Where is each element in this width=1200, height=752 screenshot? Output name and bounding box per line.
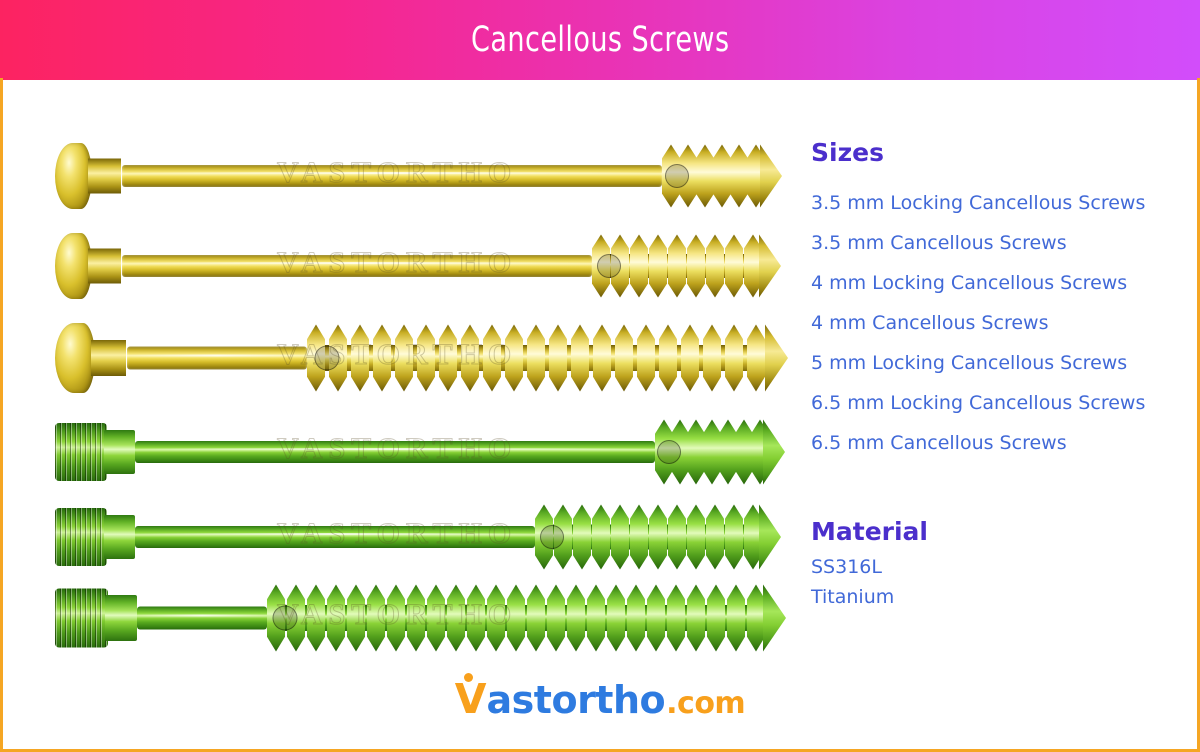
thread-crest xyxy=(687,235,705,298)
screw-tip xyxy=(760,145,782,208)
material-list: SS316LTitanium xyxy=(811,552,1181,612)
thread-crest xyxy=(735,420,753,485)
cannulation-hole xyxy=(315,346,340,371)
screw-tip xyxy=(759,235,781,298)
thread-crest xyxy=(647,585,665,652)
screw-head-locking-threads xyxy=(55,508,107,566)
thread-crest xyxy=(713,145,731,208)
material-heading: Material xyxy=(811,517,1181,546)
thread-crest xyxy=(587,585,605,652)
thread-crest xyxy=(592,505,610,570)
cannulation-hole xyxy=(597,254,621,278)
size-item-4: 5 mm Locking Cancellous Screws xyxy=(811,343,1181,383)
thread-crest xyxy=(395,325,413,392)
screw-shaft xyxy=(122,165,662,187)
screw-green-locking-fully-threaded: VASTORTHO xyxy=(55,580,795,656)
thread-crest xyxy=(593,325,611,392)
thread-crest xyxy=(467,585,485,652)
thread-crest xyxy=(706,505,724,570)
size-item-5: 6.5 mm Locking Cancellous Screws xyxy=(811,383,1181,423)
screw-head-collar xyxy=(104,430,135,474)
thread-crest xyxy=(747,325,765,392)
screw-head-neck xyxy=(88,159,121,194)
thread-crest xyxy=(615,325,633,392)
thread-crest xyxy=(637,325,655,392)
thread-crest xyxy=(668,235,686,298)
thread-crest xyxy=(687,585,705,652)
thread-crest xyxy=(649,505,667,570)
thread-crest xyxy=(667,585,685,652)
thread-crest xyxy=(687,420,705,485)
frame-border-left xyxy=(0,78,3,752)
thread-crest xyxy=(707,585,725,652)
thread-crest xyxy=(367,585,385,652)
screw-thread-section xyxy=(267,580,767,656)
screw-shaft xyxy=(135,441,655,463)
screw-head-dome xyxy=(55,323,95,393)
screw-shaft xyxy=(127,347,307,370)
thread-crest xyxy=(687,505,705,570)
logo-wordmark: astortho xyxy=(487,678,666,722)
thread-crest xyxy=(407,585,425,652)
thread-crest xyxy=(547,585,565,652)
screw-head-dome xyxy=(55,233,92,299)
thread-crest xyxy=(373,325,391,392)
logo-tld: .com xyxy=(666,686,745,721)
size-item-6: 6.5 mm Cancellous Screws xyxy=(811,423,1181,463)
screw-green-locking-long-shaft: VASTORTHO xyxy=(55,415,795,489)
thread-crest xyxy=(417,325,435,392)
screw-shaft xyxy=(135,526,535,548)
screw-head-neck xyxy=(91,340,126,376)
cannulation-hole xyxy=(540,525,564,549)
footer: Vastortho.com xyxy=(3,675,1197,723)
screw-head-locking-threads xyxy=(55,423,107,481)
screw-tip xyxy=(759,505,781,570)
thread-crest xyxy=(567,585,585,652)
thread-crest xyxy=(725,235,743,298)
thread-crest xyxy=(573,505,591,570)
size-item-3: 4 mm Cancellous Screws xyxy=(811,303,1181,343)
thread-crest xyxy=(447,585,465,652)
thread-crest xyxy=(527,325,545,392)
screw-tip xyxy=(765,325,788,392)
thread-crest xyxy=(696,145,714,208)
thread-crest xyxy=(747,585,765,652)
thread-crest xyxy=(730,145,748,208)
thread-crest xyxy=(571,325,589,392)
cannulation-hole xyxy=(657,440,681,464)
thread-crest xyxy=(725,505,743,570)
screw-tip xyxy=(763,585,786,652)
thread-crest xyxy=(668,505,686,570)
page-header: Cancellous Screws xyxy=(0,0,1200,80)
page-title: Cancellous Screws xyxy=(471,20,730,60)
thread-crest xyxy=(487,585,505,652)
thread-crest xyxy=(719,420,737,485)
thread-crest xyxy=(627,585,645,652)
screw-head-neck xyxy=(88,249,121,284)
screw-gold-fully-threaded: VASTORTHO xyxy=(55,320,795,396)
screw-shaft xyxy=(122,255,592,277)
size-item-0: 3.5 mm Locking Cancellous Screws xyxy=(811,183,1181,223)
sizes-list: 3.5 mm Locking Cancellous Screws3.5 mm C… xyxy=(811,183,1181,463)
shaft-specular-highlight xyxy=(122,172,662,174)
thread-crest xyxy=(706,235,724,298)
product-info-card: Cancellous Screws VASTORTHOVASTORTHOVAST… xyxy=(0,0,1200,752)
size-item-2: 4 mm Locking Cancellous Screws xyxy=(811,263,1181,303)
thread-crest xyxy=(327,585,345,652)
thread-crest xyxy=(527,585,545,652)
thread-crest xyxy=(351,325,369,392)
cannulation-hole xyxy=(665,164,689,188)
thread-crest xyxy=(549,325,567,392)
screw-head-collar xyxy=(104,515,135,559)
thread-crest xyxy=(461,325,479,392)
sizes-heading: Sizes xyxy=(811,138,1181,167)
card-body: VASTORTHOVASTORTHOVASTORTHOVASTORTHOVAST… xyxy=(3,80,1197,749)
thread-crest xyxy=(703,325,721,392)
thread-crest xyxy=(727,585,745,652)
thread-crest xyxy=(630,505,648,570)
thread-crest xyxy=(427,585,445,652)
screw-head-collar xyxy=(105,595,137,641)
sizes-section: Sizes 3.5 mm Locking Cancellous Screws3.… xyxy=(811,138,1181,463)
screw-image-gallery: VASTORTHOVASTORTHOVASTORTHOVASTORTHOVAST… xyxy=(55,140,795,645)
shaft-specular-highlight xyxy=(135,448,655,450)
screw-gold-partially-threaded-long-shaft: VASTORTHO xyxy=(55,140,795,212)
screw-green-locking-medium: VASTORTHO xyxy=(55,500,795,574)
thread-crest xyxy=(507,585,525,652)
screw-head-locking-threads xyxy=(55,589,108,648)
thread-crest xyxy=(681,325,699,392)
thread-crest xyxy=(725,325,743,392)
screw-shaft xyxy=(137,607,267,630)
screw-head-dome xyxy=(55,143,92,209)
screw-thread-section xyxy=(307,320,769,396)
material-section: Material SS316LTitanium xyxy=(811,517,1181,612)
thread-crest xyxy=(611,505,629,570)
screw-thread-section xyxy=(535,500,763,574)
thread-crest xyxy=(630,235,648,298)
size-item-1: 3.5 mm Cancellous Screws xyxy=(811,223,1181,263)
shaft-specular-highlight xyxy=(135,533,535,535)
thread-crest xyxy=(387,585,405,652)
thread-crest xyxy=(307,585,325,652)
shaft-specular-highlight xyxy=(127,354,307,356)
screw-tip xyxy=(763,420,785,485)
cannulation-hole xyxy=(273,606,298,631)
specifications-panel: Sizes 3.5 mm Locking Cancellous Screws3.… xyxy=(811,138,1181,612)
logo-v-mark: V xyxy=(455,675,487,723)
shaft-specular-highlight xyxy=(137,614,267,616)
vastortho-logo[interactable]: Vastortho.com xyxy=(455,675,745,723)
thread-crest xyxy=(439,325,457,392)
screw-gold-partially-threaded-medium: VASTORTHO xyxy=(55,230,795,302)
thread-crest xyxy=(649,235,667,298)
thread-crest xyxy=(607,585,625,652)
thread-crest xyxy=(347,585,365,652)
thread-crest xyxy=(483,325,501,392)
thread-crest xyxy=(659,325,677,392)
material-item-1: Titanium xyxy=(811,582,1181,612)
material-item-0: SS316L xyxy=(811,552,1181,582)
shaft-specular-highlight xyxy=(122,262,592,264)
thread-crest xyxy=(505,325,523,392)
thread-crest xyxy=(703,420,721,485)
